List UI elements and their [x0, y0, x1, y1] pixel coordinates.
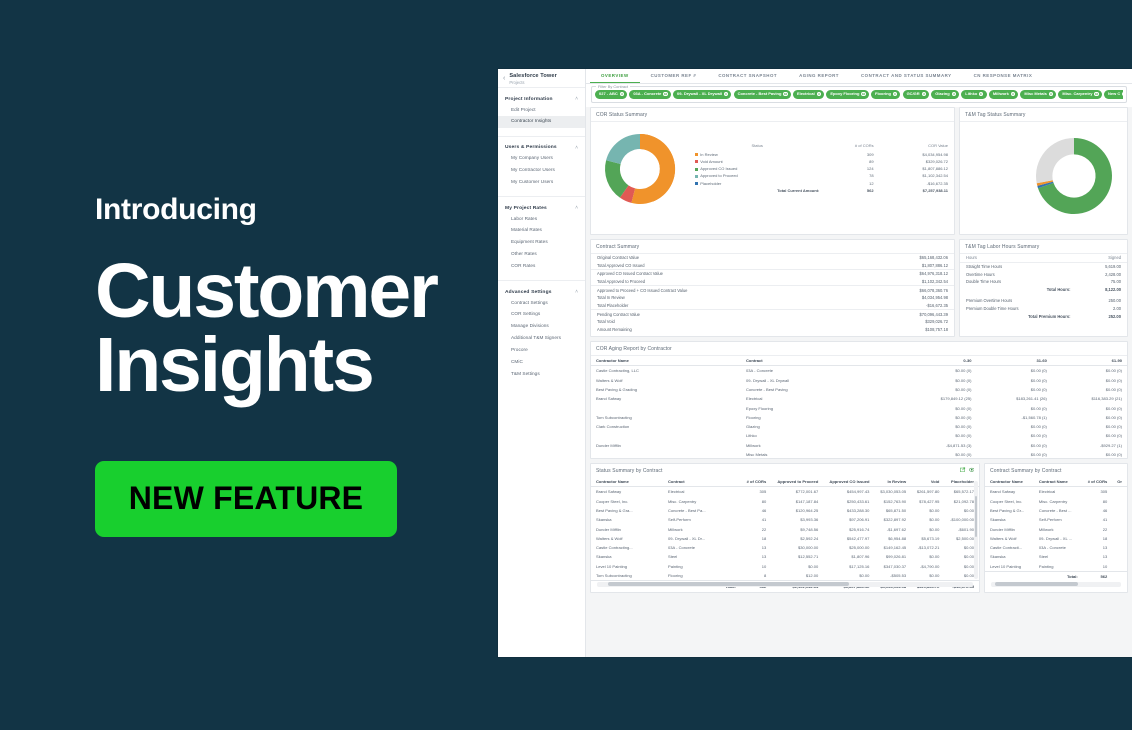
legend-total-count: 562 [819, 187, 873, 194]
table-cell: $772,001.67 [771, 487, 823, 497]
table-cell: $0.00 (0) [901, 422, 976, 431]
table-total-value: 562 [1083, 571, 1113, 582]
table-cell: 13 [741, 543, 771, 552]
table-cell [1112, 562, 1127, 572]
table-cell: Clark Construction [591, 422, 741, 431]
table-cell: Millwork [1034, 524, 1083, 533]
table-cell: $0.00 [911, 552, 944, 561]
sidebar-group: Project Information˄Edit ProjectContract… [498, 88, 585, 131]
table-cell [591, 450, 741, 459]
promo-title: Customer Insights [95, 255, 500, 403]
table-cell [1112, 506, 1127, 515]
table-cell [591, 431, 741, 440]
filter-chip[interactable]: Misc. Carpentry✕ [1058, 90, 1101, 99]
table-cell: Tom Subcontracting [591, 571, 663, 581]
table-cell: Best Paving & Gr... [985, 506, 1034, 515]
legend-body: In Review309$4,034,954.98Void Amount89$3… [695, 151, 948, 194]
contract-summary-label: Total Placeholder [591, 302, 851, 310]
csbc-header-row: Contractor NameContract Name# of CORsOr [985, 477, 1127, 487]
status-summary-title: Status Summary by Contract [591, 464, 979, 477]
table-cell: $97,206.91 [823, 515, 874, 524]
table-cell: Self-Perform [663, 515, 741, 524]
tm-total-hours-row: Total Hours:8,122.00 [960, 286, 1127, 294]
filter-legend: Filter By Contract [596, 84, 630, 89]
sidebar-item-t-m-settings[interactable]: T&M Settings [498, 368, 585, 380]
table-cell: $0.00 (0) [1052, 450, 1127, 459]
filter-chip[interactable]: New C✕ [1104, 90, 1123, 99]
sidebar: ‹ Salesforce Tower Projects Project Info… [498, 69, 586, 657]
sidebar-item-edit-project[interactable]: Edit Project [498, 104, 585, 116]
project-name: Salesforce Tower [509, 73, 557, 79]
sidebar-item-cor-settings[interactable]: COR Settings [498, 309, 585, 321]
table-cell: 8 [741, 571, 771, 581]
contract-summary-by-contract-title: Contract Summary by Contract [985, 464, 1127, 477]
filter-chip-label: 09- Drywall - XL Drywall [677, 92, 722, 96]
filter-chip-label: 03A - Concrete [633, 92, 661, 96]
table-total-row: Total:562 [985, 571, 1127, 582]
table-cell: $0.00 (0) [976, 450, 1051, 459]
close-circle-icon[interactable]: ✕ [922, 92, 926, 96]
legend-status-cell: Placeholder [695, 179, 819, 186]
table-cell: 46 [1083, 506, 1113, 515]
table-cell: 10 [1083, 562, 1113, 572]
legend-header-row: Status# of CORsCOR Value [695, 143, 948, 151]
filter-chip-label: Misc. Carpentry [1062, 92, 1092, 96]
sidebar-item-equipment-rates[interactable]: Equipment Rates [498, 237, 585, 249]
close-circle-icon[interactable]: ✕ [1011, 92, 1015, 96]
contract-summary-label: Original Contract Value [591, 254, 851, 262]
tab-customer-ref[interactable]: CUSTOMER REF # [640, 69, 708, 83]
table-total-value [1112, 571, 1127, 582]
tm-labor-row: Straight Time Hours5,619.00 [960, 262, 1127, 270]
table-cell: 22 [1083, 524, 1113, 533]
table-cell: 41 [741, 515, 771, 524]
table-cell: $261,597.80 [911, 487, 944, 497]
chevron-up-icon[interactable]: ˄ [575, 96, 578, 102]
eye-icon[interactable] [969, 467, 975, 473]
close-circle-icon[interactable]: ✕ [817, 92, 821, 96]
table-cell: Castle Contracting, LLC [591, 366, 741, 376]
table-cell: Best Paving & Grading [591, 385, 741, 394]
legend-status-label: Approved to Proceed [700, 173, 738, 178]
table-cell: $0.00 (0) [1052, 413, 1127, 422]
table-cell: $30,000.00 [771, 543, 823, 552]
table-cell: $1,807.96 [823, 552, 874, 561]
tm-total-hours-label: Total Hours: [960, 286, 1077, 294]
legend-header-cell: Status [695, 143, 819, 151]
cor-aging-table: Contractor NameContract0-3031-6061-90 Ca… [591, 356, 1127, 459]
chevron-up-icon[interactable]: ˄ [575, 145, 578, 151]
close-circle-icon[interactable]: ✕ [952, 92, 956, 96]
chevron-up-icon[interactable]: ˄ [575, 289, 578, 295]
filter-chip[interactable]: Electrical✕ [793, 90, 824, 99]
table-cell: Dunder Mifflin [591, 441, 741, 450]
tab-overview[interactable]: OVERVIEW [590, 69, 640, 83]
filter-chip-label: Electrical [797, 92, 815, 96]
tm-total-hours-value: 8,122.00 [1077, 286, 1127, 294]
table-cell: 18 [741, 534, 771, 543]
legend-status-label: Placeholder [700, 181, 721, 186]
table-cell [591, 403, 741, 412]
table-cell: 305 [741, 487, 771, 497]
tm-premium-row: Premium Overtime Hours250.00 [960, 293, 1127, 304]
legend-value-cell: $1,807,886.12 [874, 165, 948, 172]
table-cell: Misc. Carpentry [1034, 497, 1083, 506]
contract-summary-label: Approved CO Issued Contract Value [591, 269, 851, 277]
table-cell: $0.00 [823, 571, 874, 581]
sidebar-group-header-2[interactable]: My Project Rates˄ [498, 203, 585, 213]
legend-value-cell: $329,026.72 [874, 158, 948, 165]
contract-summary-row: Approved to Proceed + CO Issued Contract… [591, 286, 954, 294]
cor-aging-report-card: COR Aging Report by Contractor Contracto… [590, 341, 1128, 459]
table-cell: $116,383.29 (21) [1052, 394, 1127, 403]
table-cell: $78,427.95 [911, 497, 944, 506]
table-cell: $0.00 (0) [901, 431, 976, 440]
table-cell: 03A - Concrete [663, 543, 741, 552]
sidebar-item-contractor-insights[interactable]: Contractor Insights [498, 116, 585, 128]
legend-row: Approved to Proceed78$1,102,342.54 [695, 172, 948, 179]
table-cell: Millwork [663, 524, 741, 533]
status-summary-vertical-scrollbar[interactable] [974, 481, 978, 579]
legend-row: Approved CO Issued124$1,807,886.12 [695, 165, 948, 172]
legend-count-cell: 78 [819, 172, 873, 179]
status-summary-horizontal-scrollbar[interactable] [597, 582, 973, 587]
contract-summary-label: Amount Remaining [591, 326, 851, 334]
table-cell: Best Paving & Gra... [591, 506, 663, 515]
tab-cn-response-matrix[interactable]: CN RESPONSE MATRIX [963, 69, 1044, 83]
tm-labor-row: Double Time Hours75.00 [960, 278, 1127, 286]
tm-labor-value: 5,619.00 [1077, 262, 1127, 270]
table-cell: $183,261.41 (26) [976, 394, 1051, 403]
filter-bar: Filter By Contract 027 - ABC✕03A - Concr… [586, 84, 1132, 107]
filter-chip[interactable]: Concrete - Best Paving✕ [734, 90, 791, 99]
close-circle-icon[interactable]: ✕ [1122, 92, 1123, 96]
table-row: SkanskaSteel13$12,552.71$1,807.96$99,026… [591, 552, 979, 561]
tm-labor-hours-card: T&M Tag Labor Hours Summary HoursSigned … [959, 239, 1128, 337]
table-cell: Skanska [985, 515, 1034, 524]
close-circle-icon[interactable]: ✕ [1049, 92, 1053, 96]
contract-summary-label: Total Approved CO Issued [591, 261, 851, 269]
export-icon[interactable] [960, 467, 966, 473]
close-circle-icon[interactable]: ✕ [893, 92, 897, 96]
contract-summary-row: Total Void$329,026.72 [591, 318, 954, 326]
close-circle-icon[interactable]: ✕ [620, 92, 624, 96]
table-cell: $12,552.71 [771, 552, 823, 561]
table-row: Castle Contracting...03A - Concrete13$30… [591, 543, 979, 552]
table-cell: Flooring [741, 413, 901, 422]
contract-summary-value: $70,096,443.39 [851, 310, 954, 318]
table-cell: $5,673.19 [911, 534, 944, 543]
filter-chip[interactable]: GC/GR✕ [903, 90, 930, 99]
table-cell: 09- Drywall - XL Dr... [663, 534, 741, 543]
table-cell: Millwork [741, 441, 901, 450]
contract-summary-row: Approved CO Issued Contract Value$64,976… [591, 269, 954, 277]
sidebar-item-my-customer-users[interactable]: My Customer Users [498, 176, 585, 188]
tm-labor-hours-title: T&M Tag Labor Hours Summary [960, 240, 1127, 254]
sidebar-item-cor-rates[interactable]: COR Rates [498, 260, 585, 272]
contract-summary-row: Total Approved to Proceed$1,102,342.54 [591, 278, 954, 286]
filter-chip[interactable]: Epoxy Flooring✕ [826, 90, 869, 99]
table-cell: -$929.27 (1) [1052, 441, 1127, 450]
cor-aging-header-row: Contractor NameContract0-3031-6061-90 [591, 356, 1127, 366]
tm-labor-label: Overtime Hours [960, 270, 1077, 278]
sidebar-item-labor-rates[interactable]: Labor Rates [498, 213, 585, 225]
table-header-cell: # of CORs [1083, 477, 1113, 487]
close-circle-icon[interactable]: ✕ [783, 92, 787, 96]
contract-summary-by-contract-table: Contractor NameContract Name# of CORsOr … [985, 477, 1127, 583]
table-cell [1112, 497, 1127, 506]
legend-header-cell: # of CORs [819, 143, 873, 151]
filter-chip[interactable]: Glazing✕ [931, 90, 959, 99]
table-header-cell: Contract [741, 356, 901, 366]
table-cell: Electrical [741, 394, 901, 403]
table-cell: Skanska [591, 552, 663, 561]
legend-status-cell: Approved to Proceed [695, 172, 819, 179]
table-cell: 03A - Concrete [1034, 543, 1083, 552]
status-summary-by-contract-card: Status Summary by Contract Contractor Na… [590, 463, 980, 593]
table-header-cell: Contractor Name [591, 477, 663, 487]
sidebar-group: My Project Rates˄Labor RatesMaterial Rat… [498, 197, 585, 275]
sidebar-item-other-rates[interactable]: Other Rates [498, 249, 585, 261]
sidebar-item-contract-settings[interactable]: Contract Settings [498, 297, 585, 309]
table-header-cell: Contractor Name [985, 477, 1034, 487]
cor-status-legend: Status# of CORsCOR Value In Review309$4,… [695, 143, 948, 194]
sidebar-group-header-1[interactable]: Users & Permissions˄ [498, 143, 585, 153]
table-row: Brand SafwayElectrical305$772,001.67$454… [591, 487, 979, 497]
table-cell: Walters & Wolf [985, 534, 1034, 543]
legend-status-label: Void Amount [700, 159, 722, 164]
contract-summary-value: $4,034,954.98 [851, 294, 954, 302]
table-cell: $9,748.56 [771, 524, 823, 533]
table-cell: Walters & Wolf [591, 534, 663, 543]
table-cell: Flooring [663, 571, 741, 581]
contract-summary-table: Original Contract Value$65,168,432.06Tot… [591, 254, 954, 334]
table-cell [1112, 543, 1127, 552]
table-cell: Misc. Carpentry [663, 497, 741, 506]
table-cell: -$4,871.53 (3) [901, 441, 976, 450]
table-cell: -$1,560.78 (1) [976, 413, 1051, 422]
table-cell: $322,897.92 [874, 515, 911, 524]
table-cell: $0.00 (0) [901, 385, 976, 394]
close-circle-icon[interactable]: ✕ [861, 92, 865, 96]
filter-chip[interactable]: Lithko✕ [961, 90, 986, 99]
status-summary-table: Contractor NameContract# of CORsApproved… [591, 477, 979, 592]
table-header-cell: 31-60 [976, 356, 1051, 366]
contract-summary-value: -$16,672.35 [851, 302, 954, 310]
legend-swatch [695, 160, 698, 163]
table-cell: -$505.53 [874, 571, 911, 581]
legend-status-cell: Approved CO Issued [695, 165, 819, 172]
table-cell: 80 [741, 497, 771, 506]
tm-labor-hours-table: HoursSigned Straight Time Hours5,619.00O… [960, 254, 1127, 320]
table-cell: $0.00 (0) [976, 385, 1051, 394]
table-cell: Steel [1034, 552, 1083, 561]
tm-tag-donut-chart [1028, 130, 1120, 222]
table-cell: Level 10 Painting [985, 562, 1034, 572]
table-cell: $0.00 (0) [901, 376, 976, 385]
promo-panel: Introducing Customer Insights NEW FEATUR… [0, 0, 500, 730]
filter-chip[interactable]: Flooring✕ [871, 90, 900, 99]
table-cell [1112, 534, 1127, 543]
sidebar-item-my-contractor-users[interactable]: My Contractor Users [498, 164, 585, 176]
sidebar-group-header-3[interactable]: Advanced Settings˄ [498, 287, 585, 297]
tm-labor-value: 2,428.00 [1077, 270, 1127, 278]
table-cell: Painting [663, 562, 741, 571]
table-cell: Walters & Wolf [591, 376, 741, 385]
table-cell: Concrete - Best ... [1034, 506, 1083, 515]
table-cell: Castle Contracting... [591, 543, 663, 552]
chevron-up-icon[interactable]: ˄ [575, 205, 578, 211]
table-row: Dunder MifflinMillwork22$9,748.56$25,916… [591, 524, 979, 533]
legend-row: Placeholder12-$16,672.35 [695, 179, 948, 186]
contract-summary-value: $1,807,886.12 [851, 261, 954, 269]
table-cell: Steel [663, 552, 741, 561]
csbc-horizontal-scrollbar[interactable] [991, 582, 1121, 587]
cor-status-summary-title: COR Status Summary [591, 108, 954, 122]
filter-chip-label: New C [1108, 92, 1120, 96]
table-cell: 10 [741, 562, 771, 571]
cor-aging-title: COR Aging Report by Contractor [591, 342, 1127, 356]
filter-chip-label: Lithko [965, 92, 977, 96]
table-cell: $25,916.74 [823, 524, 874, 533]
table-cell: $0.00 [911, 506, 944, 515]
table-cell: $454,997.43 [823, 487, 874, 497]
chevron-left-icon[interactable]: ‹ [503, 75, 505, 82]
legend-total-label: Total Current Amount: [695, 187, 819, 194]
table-header-cell: Approved to Proceed [771, 477, 823, 487]
tab-contract-and-status-summary[interactable]: CONTRACT AND STATUS SUMMARY [850, 69, 963, 83]
sidebar-item-manage-divisions[interactable]: Manage Divisions [498, 321, 585, 333]
legend-swatch [695, 182, 698, 185]
close-circle-icon[interactable]: ✕ [1094, 92, 1098, 96]
close-circle-icon[interactable]: ✕ [724, 92, 728, 96]
filter-by-contract-field[interactable]: Filter By Contract 027 - ABC✕03A - Concr… [591, 86, 1127, 103]
table-cell: $0.00 (0) [901, 403, 976, 412]
table-row: Level 10 PaintingPainting10$0.00$17,125.… [591, 562, 979, 571]
table-cell: Glazing [741, 422, 901, 431]
legend-count-cell: 89 [819, 158, 873, 165]
legend-count-cell: 309 [819, 151, 873, 158]
legend-swatch [695, 175, 698, 178]
contract-summary-title: Contract Summary [591, 240, 954, 254]
table-cell: $0.00 (0) [976, 441, 1051, 450]
table-cell: Brand Safway [591, 394, 741, 403]
table-header-cell: 61-90 [1052, 356, 1127, 366]
tab-contract-snapshot[interactable]: CONTRACT SNAPSHOT [707, 69, 788, 83]
table-row: SkanskaSelf-Perform41 [985, 515, 1127, 524]
table-cell [1112, 524, 1127, 533]
close-circle-icon[interactable]: ✕ [979, 92, 983, 96]
table-cell: $25,000.00 [823, 543, 874, 552]
sidebar-item-additional-t-m-signers[interactable]: Additional T&M Signers [498, 333, 585, 345]
dashboard-content: COR Status Summary [586, 107, 1132, 658]
filter-chip[interactable]: Millwork✕ [989, 90, 1018, 99]
table-cell: $179,849.12 (25) [901, 394, 976, 403]
table-cell: $3,030,053.05 [874, 487, 911, 497]
status-summary-header-row: Contractor NameContract# of CORsApproved… [591, 477, 979, 487]
table-row: Walters & Wolf09- Drywall - XL ...18 [985, 534, 1127, 543]
sidebar-item-procore[interactable]: Procore [498, 344, 585, 356]
charts-row: COR Status Summary [590, 107, 1128, 239]
table-cell: Painting [1034, 562, 1083, 572]
table-cell: Concrete - Best Pa... [663, 506, 741, 515]
filter-chip-label: Misc Metals [1024, 92, 1046, 96]
summary-row: Contract Summary Original Contract Value… [590, 239, 1128, 341]
filter-chip[interactable]: 09- Drywall - XL Drywall✕ [673, 90, 731, 99]
table-row: Clark ConstructionGlazing$0.00 (0)$0.00 … [591, 422, 1127, 431]
table-cell: 13 [741, 552, 771, 561]
contract-summary-row: Pending Contract Value$70,096,443.39 [591, 310, 954, 318]
table-cell: $65,871.50 [874, 506, 911, 515]
filter-chip[interactable]: Misc Metals✕ [1020, 90, 1056, 99]
tm-tag-donut-area [960, 122, 1127, 228]
table-header-cell: Contract [663, 477, 741, 487]
table-cell: $0.00 (0) [976, 376, 1051, 385]
filter-chip-label: Epoxy Flooring [830, 92, 859, 96]
legend-value-cell: $1,102,342.54 [874, 172, 948, 179]
table-cell [1112, 515, 1127, 524]
table-cell: -$13,072.21 [911, 543, 944, 552]
tab-aging-report[interactable]: AGING REPORT [788, 69, 850, 83]
table-cell: $347,030.37 [874, 562, 911, 571]
tm-tag-status-title: T&M Tag Status Summary [960, 108, 1127, 122]
table-cell: $0.00 (0) [976, 422, 1051, 431]
legend-swatch [695, 153, 698, 156]
table-cell: 09- Drywall - XL Drywall [741, 376, 901, 385]
tm-labor-label: Straight Time Hours [960, 262, 1077, 270]
filter-chip[interactable]: 03A - Concrete✕ [629, 90, 670, 99]
tm-premium-value: 2.00 [1077, 305, 1127, 313]
sidebar-group-title: Advanced Settings [505, 290, 552, 295]
filter-chip-label: GC/GR [907, 92, 920, 96]
contract-summary-label: Approved to Proceed + CO Issued Contract… [591, 286, 851, 294]
contract-summary-row: Total Placeholder-$16,672.35 [591, 302, 954, 310]
sidebar-item-my-company-users[interactable]: My Company Users [498, 153, 585, 165]
tm-labor-body: Straight Time Hours5,619.00Overtime Hour… [960, 262, 1127, 320]
table-cell: $0.00 (0) [1052, 422, 1127, 431]
legend-value-cell: -$16,672.35 [874, 179, 948, 186]
contract-summary-label: Total Void [591, 318, 851, 326]
cor-status-donut-chart [597, 126, 683, 212]
tm-premium-label: Premium Double Time Hours [960, 305, 1077, 313]
table-row: Brand SafwayElectrical305 [985, 487, 1127, 497]
table-cell: $0.00 (0) [976, 431, 1051, 440]
table-row: Lithko$0.00 (0)$0.00 (0)$0.00 (0) [591, 431, 1127, 440]
filter-chip-label: Concrete - Best Paving [738, 92, 782, 96]
table-cell: 09- Drywall - XL ... [1034, 534, 1083, 543]
close-circle-icon[interactable]: ✕ [663, 92, 667, 96]
table-cell: Skanska [591, 515, 663, 524]
table-cell: Concrete - Best Paving [741, 385, 901, 394]
sidebar-group-title: Users & Permissions [505, 145, 557, 150]
sidebar-item-material-rates[interactable]: Material Rates [498, 225, 585, 237]
sidebar-group-header-0[interactable]: Project Information˄ [498, 94, 585, 104]
table-cell: $0.00 (0) [901, 413, 976, 422]
table-cell: 41 [1083, 515, 1113, 524]
sidebar-item-cmic[interactable]: CMiC [498, 356, 585, 368]
table-row: Castle Contracti...03A - Concrete13 [985, 543, 1127, 552]
table-row: Best Paving & GradingConcrete - Best Pav… [591, 385, 1127, 394]
table-header-cell: Contractor Name [591, 356, 741, 366]
sidebar-group-title: My Project Rates [505, 206, 547, 211]
sidebar-groups: Project Information˄Edit ProjectContract… [498, 88, 585, 383]
tm-labor-header-cell: Signed [1077, 254, 1127, 263]
filter-chip[interactable]: 027 - ABC✕ [595, 90, 627, 99]
table-row: Level 10 PaintingPainting10 [985, 562, 1127, 572]
table-cell: $0.00 (0) [976, 403, 1051, 412]
tm-premium-label: Premium Overtime Hours [960, 293, 1077, 304]
table-header-cell: # of CORs [741, 477, 771, 487]
